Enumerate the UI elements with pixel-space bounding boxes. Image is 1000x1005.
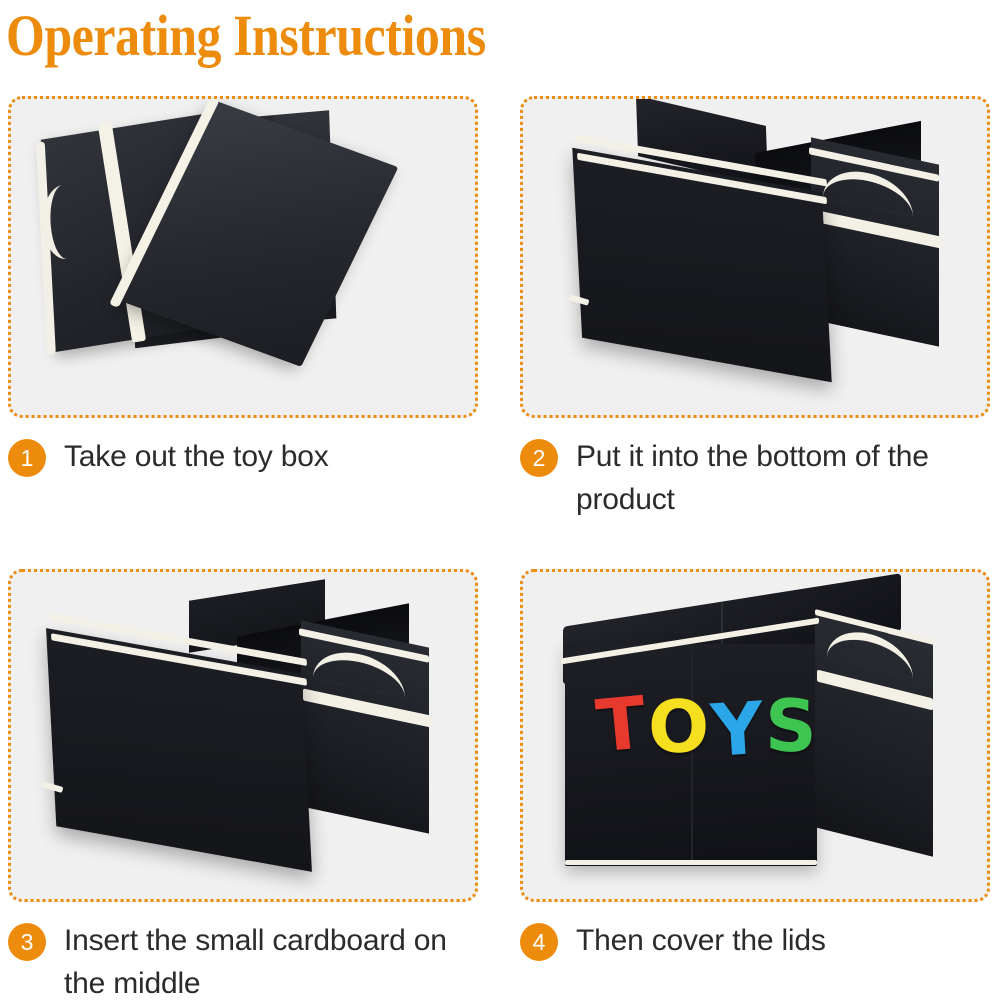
step-1-caption: 1 Take out the toy box <box>8 436 478 479</box>
step-3-text: Insert the small cardboard on the middle <box>64 920 478 1005</box>
step-4: TOYS 4 Then cover the lids <box>500 569 1000 1005</box>
step-4-text: Then cover the lids <box>576 920 826 963</box>
step-1-text: Take out the toy box <box>64 436 329 479</box>
step-1-image <box>8 96 478 418</box>
toys-letter-t: T <box>593 686 651 763</box>
steps-grid: 1 Take out the toy box <box>0 96 1000 1005</box>
step-4-badge: 4 <box>520 923 558 961</box>
step-1-badge: 1 <box>8 439 46 477</box>
steps-row-2: 3 Insert the small cardboard on the midd… <box>0 569 1000 1005</box>
step-2: 2 Put it into the bottom of the product <box>500 96 1000 521</box>
page-title: Operating Instructions <box>6 2 486 70</box>
step-2-image <box>520 96 990 418</box>
step-2-text: Put it into the bottom of the product <box>576 436 990 521</box>
assembled-box-illustration: TOYS <box>523 572 987 899</box>
step-4-image: TOYS <box>520 569 990 902</box>
step-3-image <box>8 569 478 902</box>
step-4-caption: 4 Then cover the lids <box>520 920 990 963</box>
step-3: 3 Insert the small cardboard on the midd… <box>0 569 500 1005</box>
toys-letter-y: Y <box>709 692 767 767</box>
step-3-caption: 3 Insert the small cardboard on the midd… <box>8 920 478 1005</box>
steps-row-1: 1 Take out the toy box <box>0 96 1000 521</box>
divider-insert-illustration <box>11 572 475 899</box>
instruction-sheet: Operating Instructions <box>0 0 1000 1000</box>
step-1: 1 Take out the toy box <box>0 96 500 521</box>
step-3-badge: 3 <box>8 923 46 961</box>
flat-pack-illustration <box>11 99 475 415</box>
step-2-caption: 2 Put it into the bottom of the product <box>520 436 990 521</box>
toys-label: TOYS <box>596 687 820 765</box>
toys-letter-s: S <box>765 690 819 762</box>
open-box-illustration <box>523 99 987 415</box>
box-bottom-trim <box>565 860 817 865</box>
toys-letter-o: O <box>648 691 712 764</box>
step-2-badge: 2 <box>520 439 558 477</box>
